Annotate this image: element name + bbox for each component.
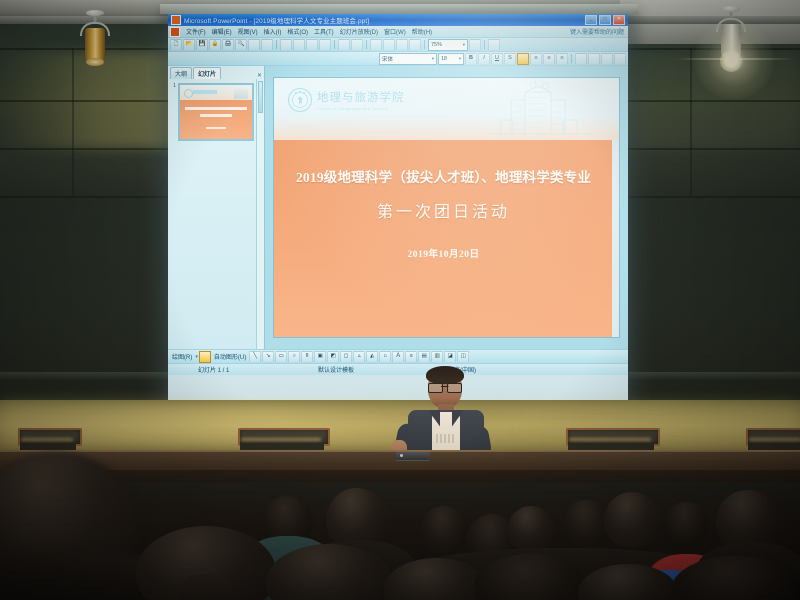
show-formatting-icon[interactable] xyxy=(409,39,421,51)
powerpoint-app-icon xyxy=(171,15,181,25)
lamp-canopy xyxy=(722,6,740,12)
3d-style-icon[interactable]: ◫ xyxy=(457,351,469,363)
chair-highlight xyxy=(569,438,651,441)
navigator-tabs: 大纲 幻灯片 ✕ xyxy=(168,66,264,79)
select-objects-icon[interactable] xyxy=(199,351,211,363)
tab-slides[interactable]: 幻灯片 xyxy=(193,67,221,79)
align-right-button[interactable]: ≡ xyxy=(556,53,568,65)
audience-ponytail xyxy=(180,574,232,600)
shirt-graphic xyxy=(436,434,456,443)
track-spotlight-gold xyxy=(80,10,110,74)
thumbnail-date-line xyxy=(206,127,226,129)
toolbar-separator xyxy=(334,40,335,49)
chevron-down-icon[interactable]: ▾ xyxy=(432,56,434,62)
close-button[interactable]: ✕ xyxy=(613,15,625,25)
toolbar-separator xyxy=(571,54,572,63)
copy-icon[interactable] xyxy=(293,39,305,51)
window-controls: _ □ ✕ xyxy=(585,15,625,25)
dash-style-icon[interactable]: ▤ xyxy=(418,351,430,363)
rectangle-icon[interactable]: ▭ xyxy=(275,351,287,363)
glasses-lens-left xyxy=(428,383,443,393)
help-question-box[interactable]: 键入需要帮助的问题 xyxy=(570,27,626,36)
formatting-toolbar: 宋体 ▾ 18 ▾ B I U S ≡ ≡ ≡ xyxy=(168,52,628,66)
school-name-chinese: 地理与旅游学院 xyxy=(317,89,405,105)
numbering-button[interactable] xyxy=(588,53,600,65)
minimize-button[interactable]: _ xyxy=(585,15,597,25)
audience-head xyxy=(664,502,708,546)
standard-toolbar: 🗋 📂 💾 🔒 🖨 🔍 xyxy=(168,38,628,52)
menu-tools[interactable]: 工具(T) xyxy=(311,27,337,36)
chair-seat xyxy=(748,443,800,450)
seated-audience xyxy=(0,470,800,600)
wordart-icon[interactable]: ▣ xyxy=(314,351,326,363)
line-icon[interactable]: ╲ xyxy=(249,351,261,363)
chair-seat xyxy=(568,443,654,450)
slide-navigator-pane: 大纲 幻灯片 ✕ 1 xyxy=(168,66,265,349)
lamp-canopy xyxy=(86,10,104,16)
font-name-combo[interactable]: 宋体 ▾ xyxy=(379,53,437,65)
glasses-icon xyxy=(428,383,462,391)
slide-thumbnail-row[interactable]: 1 xyxy=(168,79,264,145)
slide-editing-pane[interactable]: 地理与旅游学院 School of Geography and Tourism xyxy=(265,66,628,349)
university-seal-icon xyxy=(288,88,312,112)
fill-color-icon[interactable]: ◭ xyxy=(366,351,378,363)
deer-emblem-icon xyxy=(296,96,304,105)
thumbnail-orange-band xyxy=(180,100,252,139)
audience-head xyxy=(420,506,468,554)
campus-building-illustration xyxy=(481,80,601,140)
text-shadow-button[interactable]: S xyxy=(504,53,516,65)
chair-3 xyxy=(566,428,656,452)
chair-highlight xyxy=(21,438,73,441)
thumbnail-title-line xyxy=(185,107,247,110)
slide-thumbnail-1[interactable] xyxy=(178,83,254,141)
font-name-value: 宋体 xyxy=(382,55,393,63)
chair-4 xyxy=(746,428,800,452)
paste-icon[interactable] xyxy=(306,39,318,51)
spellcheck-icon[interactable] xyxy=(248,39,260,51)
logo-text-block: 地理与旅游学院 School of Geography and Tourism xyxy=(317,89,405,111)
new-slide-icon[interactable] xyxy=(488,39,500,51)
document-icon xyxy=(170,27,180,37)
cut-icon[interactable] xyxy=(280,39,292,51)
chair-2 xyxy=(238,428,326,452)
navigator-scrollbar[interactable] xyxy=(256,79,264,349)
audience-head xyxy=(562,500,610,548)
insert-table-icon[interactable] xyxy=(383,39,395,51)
current-slide[interactable]: 地理与旅游学院 School of Geography and Tourism xyxy=(274,78,619,337)
toolbar-separator xyxy=(276,40,277,49)
maximize-button[interactable]: □ xyxy=(599,15,611,25)
align-center-button[interactable]: ≡ xyxy=(543,53,555,65)
font-size-value: 18 xyxy=(441,56,447,62)
lamp-housing xyxy=(85,28,105,62)
zoom-value: 75% xyxy=(431,42,442,48)
line-color-icon[interactable]: ⌂ xyxy=(379,351,391,363)
slide-counter: 幻灯片 1 / 1 xyxy=(168,365,318,374)
textbox-icon[interactable]: ⌷ xyxy=(301,351,313,363)
school-logo: 地理与旅游学院 School of Geography and Tourism xyxy=(288,88,405,112)
menu-view[interactable]: 视图(V) xyxy=(235,27,261,36)
chair-1 xyxy=(18,428,78,452)
presenter-hair xyxy=(426,366,464,384)
undo-icon[interactable] xyxy=(338,39,350,51)
lighting-track xyxy=(628,16,800,24)
scrollbar-thumb[interactable] xyxy=(258,81,263,113)
thumbnail-seal-icon xyxy=(184,89,193,98)
font-color-icon[interactable]: Ａ xyxy=(392,351,404,363)
diagram-icon[interactable]: ◩ xyxy=(327,351,339,363)
powerpoint-workarea: 大纲 幻灯片 ✕ 1 xyxy=(168,66,628,349)
close-pane-icon[interactable]: ✕ xyxy=(257,72,264,79)
menu-format[interactable]: 格式(O) xyxy=(284,27,311,36)
oval-icon[interactable]: ○ xyxy=(288,351,300,363)
new-file-icon[interactable]: 🗋 xyxy=(170,39,182,51)
line-style-icon[interactable]: ≡ xyxy=(405,351,417,363)
window-title: Microsoft PowerPoint - [2019级地理科学人文专业主题班… xyxy=(184,15,369,25)
italic-button[interactable]: I xyxy=(478,53,490,65)
menu-file[interactable]: 文件(F) xyxy=(183,27,209,36)
arrow-icon[interactable]: ↘ xyxy=(262,351,274,363)
screen-roller-housing xyxy=(160,4,638,14)
font-color-swatch[interactable] xyxy=(517,53,529,65)
open-file-icon[interactable]: 📂 xyxy=(183,39,195,51)
permission-icon[interactable]: 🔒 xyxy=(209,39,221,51)
arrow-style-icon[interactable]: ▥ xyxy=(431,351,443,363)
chair-seat xyxy=(240,443,324,450)
decrease-font-button[interactable] xyxy=(614,53,626,65)
chevron-down-icon[interactable]: ▾ xyxy=(463,42,465,48)
bold-button[interactable]: B xyxy=(465,53,477,65)
chair-highlight xyxy=(749,438,800,441)
increase-font-button[interactable] xyxy=(601,53,613,65)
toolbar-separator xyxy=(424,40,425,49)
thumbnail-logo-text xyxy=(193,90,217,94)
format-painter-icon[interactable] xyxy=(319,39,331,51)
thumbnail-subtitle-line xyxy=(200,114,232,117)
wall-panel-seam xyxy=(72,48,74,196)
thumbnail-building-illustration xyxy=(234,88,248,99)
chevron-down-icon[interactable]: ▾ xyxy=(459,56,461,62)
slide-date: 2019年10月20日 xyxy=(274,246,613,260)
microphone-indicator xyxy=(400,454,403,457)
lamp-glare xyxy=(694,20,774,100)
school-name-english: School of Geography and Tourism xyxy=(317,106,405,111)
print-preview-icon[interactable]: 🔍 xyxy=(235,39,247,51)
insert-hyperlink-icon[interactable] xyxy=(396,39,408,51)
auditorium-scene: Microsoft PowerPoint - [2019级地理科学人文专业主题班… xyxy=(0,0,800,600)
slide-right-edge xyxy=(612,140,619,337)
tab-outline[interactable]: 大纲 xyxy=(170,67,192,79)
align-left-button[interactable]: ≡ xyxy=(530,53,542,65)
wall-panel-seam xyxy=(690,48,692,196)
audience-head xyxy=(604,492,660,548)
bullets-button[interactable] xyxy=(575,53,587,65)
projection-screen: Microsoft PowerPoint - [2019级地理科学人文专业主题班… xyxy=(168,14,628,414)
clipart-icon[interactable]: ▵ xyxy=(353,351,365,363)
toolbar-separator xyxy=(484,40,485,49)
lamp-glare-streak xyxy=(676,58,794,60)
glasses-lens-right xyxy=(447,383,462,393)
save-icon[interactable]: 💾 xyxy=(196,39,208,51)
shadow-style-icon[interactable]: ◪ xyxy=(444,351,456,363)
thumbnail-number: 1 xyxy=(171,83,176,89)
chevron-down-icon[interactable]: ▾ xyxy=(195,354,198,360)
research-icon[interactable] xyxy=(261,39,273,51)
slide-title: 2019级地理科学（拔尖人才班）、地理科学类专业 xyxy=(274,166,613,186)
drawing-toolbar: 绘图(R) ▾ 自动图形(U) ╲ ↘ ▭ ○ ⌷ ▣ ◩ ◻ ▵ ◭ ⌂ Ａ … xyxy=(168,349,628,363)
font-size-combo[interactable]: 18 ▾ xyxy=(438,53,464,65)
menu-window[interactable]: 窗口(W) xyxy=(381,27,409,36)
audience-head xyxy=(508,506,554,552)
menu-bar: 文件(F) 编辑(E) 视图(V) 插入(I) 格式(O) 工具(T) 幻灯片放… xyxy=(168,26,628,38)
slide-subtitle: 第一次团日活动 xyxy=(274,198,613,222)
powerpoint-window: Microsoft PowerPoint - [2019级地理科学人文专业主题班… xyxy=(168,14,628,414)
chair-highlight xyxy=(241,438,321,441)
zoom-combo[interactable]: 75% ▾ xyxy=(428,39,468,51)
menu-slideshow[interactable]: 幻灯片放映(D) xyxy=(337,27,381,36)
autoshapes-menu[interactable]: 自动图形(U) xyxy=(212,352,248,361)
redo-icon[interactable] xyxy=(351,39,363,51)
insert-picture-icon[interactable]: ◻ xyxy=(340,351,352,363)
draw-menu[interactable]: 绘图(R) xyxy=(170,352,194,361)
menu-edit[interactable]: 编辑(E) xyxy=(209,27,235,36)
toolbar-separator xyxy=(366,40,367,49)
help-icon[interactable] xyxy=(469,39,481,51)
chair-seat xyxy=(20,443,76,450)
menu-help[interactable]: 帮助(H) xyxy=(409,27,435,36)
underline-button[interactable]: U xyxy=(491,53,503,65)
window-titlebar: Microsoft PowerPoint - [2019级地理科学人文专业主题班… xyxy=(168,14,628,26)
menu-insert[interactable]: 插入(I) xyxy=(261,27,285,36)
print-icon[interactable]: 🖨 xyxy=(222,39,234,51)
insert-chart-icon[interactable] xyxy=(370,39,382,51)
